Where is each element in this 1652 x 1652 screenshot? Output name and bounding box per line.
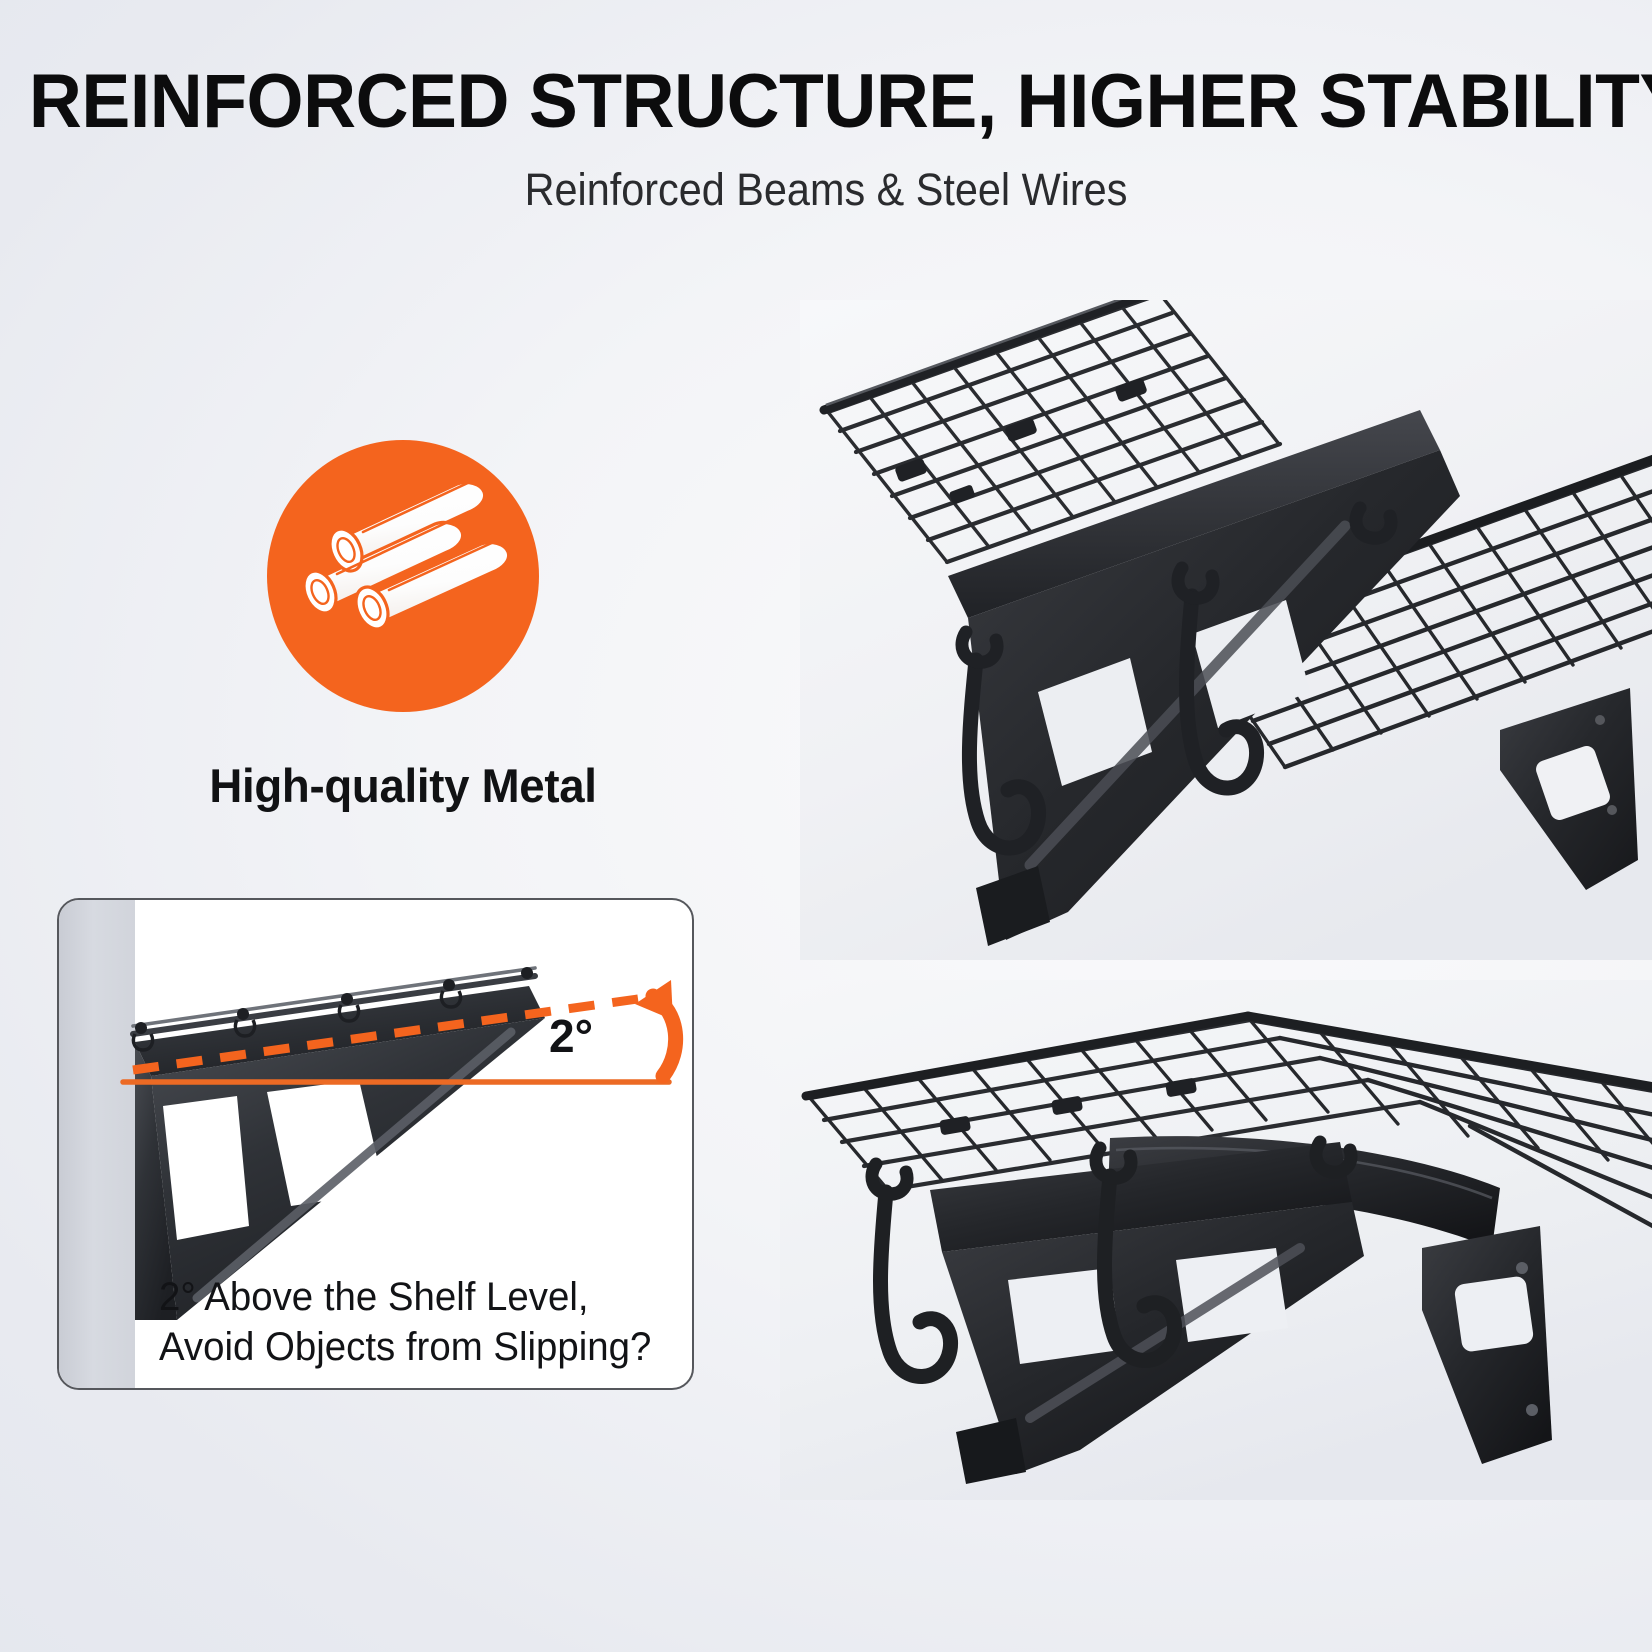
angle-value: 2° xyxy=(549,1010,593,1062)
metal-pipes-icon xyxy=(267,440,539,712)
angle-detail-card: 2° 2° Above the Shelf Level, Avoid Objec… xyxy=(57,898,694,1390)
angle-caption-line-2: Avoid Objects from Slipping? xyxy=(159,1322,653,1372)
page-subtitle: Reinforced Beams & Steel Wires xyxy=(66,164,1586,216)
product-photo-top xyxy=(800,300,1652,960)
feature-badge: High-quality Metal xyxy=(168,440,638,813)
product-photo-bottom xyxy=(780,980,1652,1500)
page-title: REINFORCED STRUCTURE, HIGHER STABILITY xyxy=(29,60,1623,144)
product-feature-page: REINFORCED STRUCTURE, HIGHER STABILITY R… xyxy=(0,0,1652,1652)
feature-badge-label: High-quality Metal xyxy=(175,758,631,813)
angle-caption-line-1: 2° Above the Shelf Level, xyxy=(159,1272,653,1322)
angle-caption: 2° Above the Shelf Level, Avoid Objects … xyxy=(159,1272,653,1372)
header-block: REINFORCED STRUCTURE, HIGHER STABILITY R… xyxy=(0,60,1652,216)
